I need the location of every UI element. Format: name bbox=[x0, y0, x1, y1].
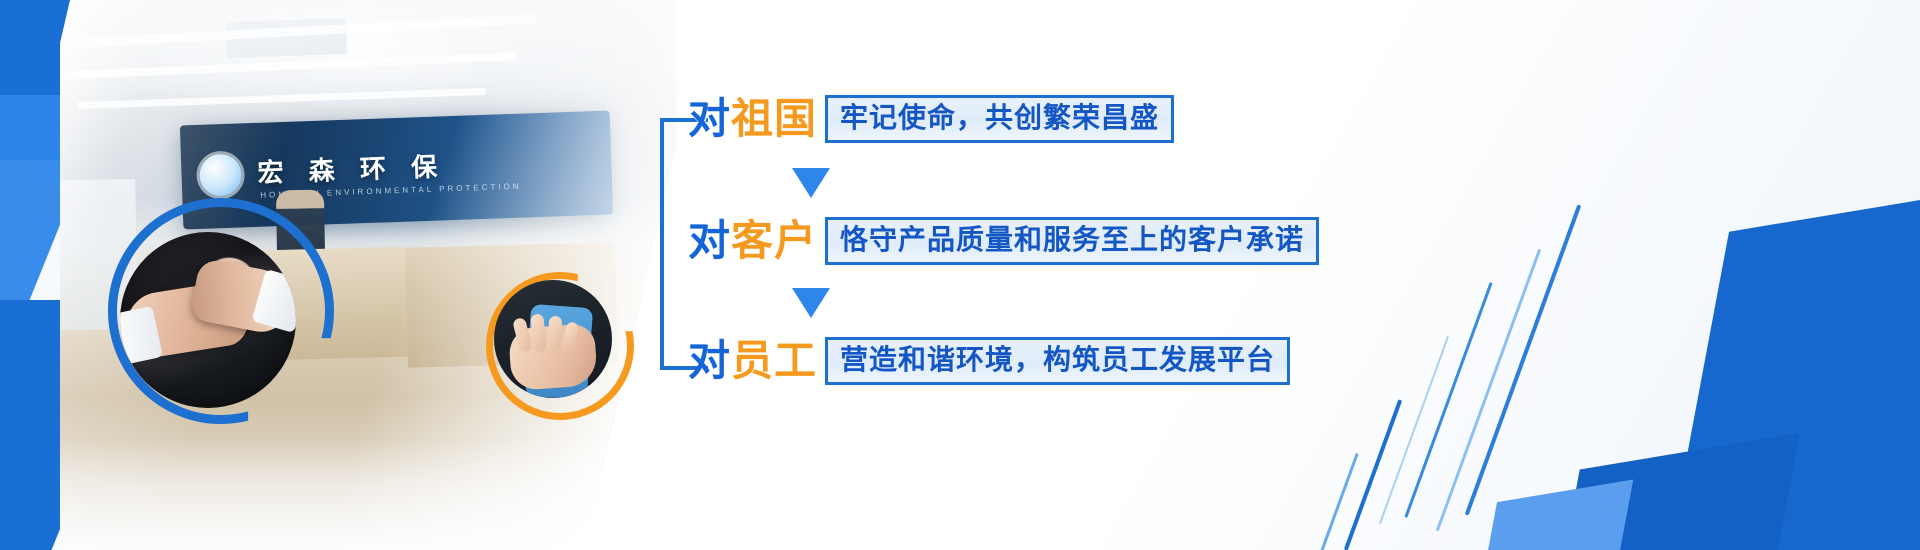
value-prefix-employee: 对 bbox=[688, 337, 731, 384]
company-values-banner: 宏 森 环 保 HONGSEN ENVIRONMENTAL PROTECTION bbox=[0, 0, 1920, 550]
divider-arrow-1 bbox=[792, 168, 830, 198]
divider-arrow-2 bbox=[792, 288, 830, 318]
decor-shape-right-small bbox=[1477, 480, 1634, 550]
value-heading-customer: 对客户 bbox=[688, 220, 817, 262]
value-prefix-country: 对 bbox=[688, 95, 731, 142]
handshake-photo bbox=[120, 232, 296, 408]
value-heading-country: 对祖国 bbox=[688, 98, 817, 140]
value-heading-employee: 对员工 bbox=[688, 340, 817, 382]
decor-stripe-1 bbox=[1465, 204, 1582, 515]
value-keyword-country: 祖国 bbox=[731, 95, 817, 142]
values-list: 对祖国 牢记使命，共创繁荣昌盛 对客户 恪守产品质量和服务至上的客户承诺 对员工… bbox=[660, 0, 1420, 550]
value-row-employee: 对员工 营造和谐环境，构筑员工发展平台 bbox=[688, 335, 1290, 387]
value-row-country: 对祖国 牢记使命，共创繁荣昌盛 bbox=[688, 93, 1174, 145]
value-prefix-customer: 对 bbox=[688, 217, 731, 264]
applause-photo bbox=[494, 280, 612, 398]
value-statement-customer: 恪守产品质量和服务至上的客户承诺 bbox=[825, 217, 1319, 265]
value-row-customer: 对客户 恪守产品质量和服务至上的客户承诺 bbox=[688, 215, 1319, 267]
value-keyword-customer: 客户 bbox=[731, 217, 817, 264]
value-keyword-employee: 员工 bbox=[731, 337, 817, 384]
value-statement-country: 牢记使命，共创繁荣昌盛 bbox=[825, 95, 1174, 143]
value-statement-employee: 营造和谐环境，构筑员工发展平台 bbox=[825, 337, 1290, 385]
